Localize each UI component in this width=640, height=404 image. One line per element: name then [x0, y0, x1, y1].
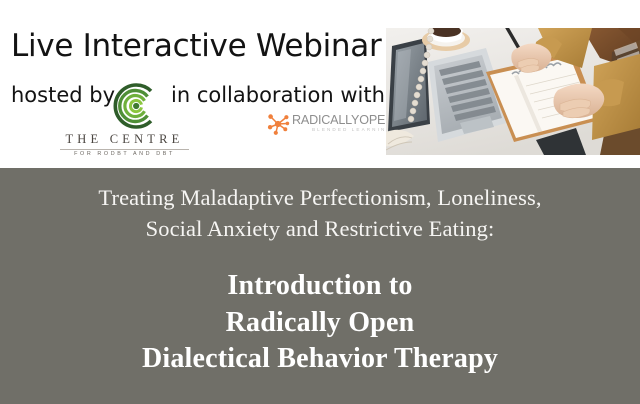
- radically-open-molecule-icon: [267, 112, 291, 136]
- person-writing-in-notebook-beside-laptop-photo: [386, 28, 640, 155]
- radically-open-tagline-text: BLENDED LEARNING: [312, 128, 392, 133]
- headline-live-interactive-webinar: Live Interactive Webinar: [11, 31, 381, 62]
- in-collaboration-with-label: in collaboration with: [171, 84, 385, 107]
- title-line-1: Introduction to: [0, 268, 640, 305]
- centre-wordmark-text: THE CENTRE: [52, 132, 197, 147]
- poster-main-title: Introduction to Radically Open Dialectic…: [0, 268, 640, 378]
- title-line-3: Dialectical Behavior Therapy: [0, 341, 640, 378]
- centre-tagline-text: FOR RODBT AND DBT: [52, 151, 197, 157]
- poster-header-band: Live Interactive Webinar hosted by in co…: [0, 0, 640, 168]
- header-text-column: Live Interactive Webinar hosted by in co…: [0, 0, 386, 168]
- webinar-promo-poster: Live Interactive Webinar hosted by in co…: [0, 0, 640, 404]
- subtitle-line-1: Treating Maladaptive Perfectionism, Lone…: [0, 182, 640, 213]
- poster-body-band: Treating Maladaptive Perfectionism, Lone…: [0, 168, 640, 404]
- radically-open-logo: RADICALLYOPEN BLENDED LEARNING: [267, 110, 379, 138]
- title-line-2: Radically Open: [0, 305, 640, 342]
- centre-concentric-arcs-icon: [110, 82, 158, 130]
- poster-subtitle: Treating Maladaptive Perfectionism, Lone…: [0, 182, 640, 244]
- radically-open-wordmark-text: RADICALLYOPEN: [292, 114, 394, 127]
- the-centre-logo: THE CENTRE FOR RODBT AND DBT: [52, 82, 197, 164]
- centre-logo-divider: [60, 149, 189, 150]
- subtitle-line-2: Social Anxiety and Restrictive Eating:: [0, 213, 640, 244]
